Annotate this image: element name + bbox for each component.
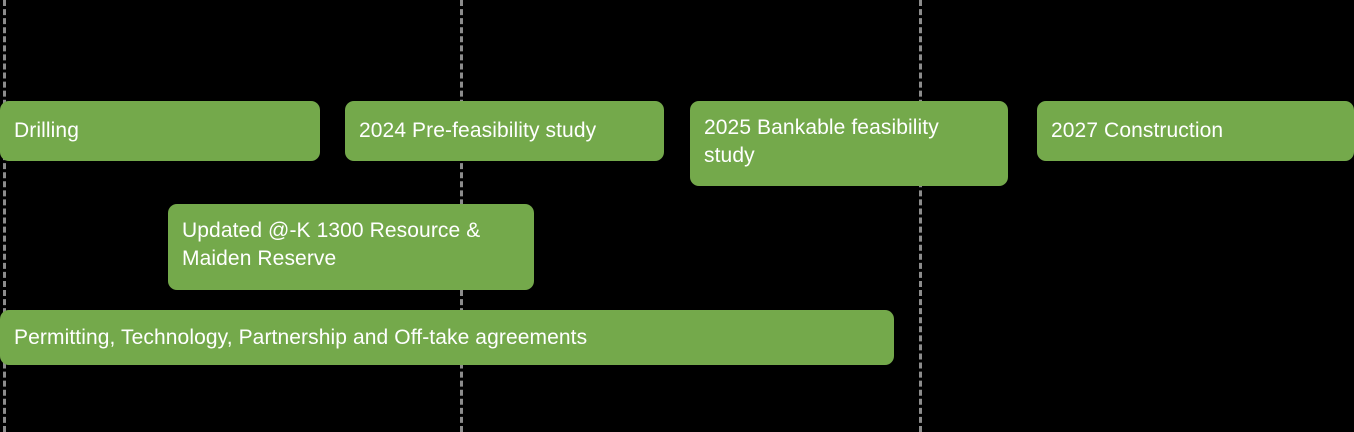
gridline-left-dashed [3,0,6,432]
timeline-chart: Drilling2024 Pre-feasibility study2025 B… [0,0,1354,432]
timeline-bar-label: Drilling [14,117,306,145]
timeline-bar-drilling[interactable]: Drilling [0,101,320,161]
timeline-bar-permitting-agreements[interactable]: Permitting, Technology, Partnership and … [0,310,894,365]
timeline-bar-bankable-feasibility-study[interactable]: 2025 Bankable feasibility study [690,101,1008,186]
timeline-bar-label: Updated @-K 1300 Resource & Maiden Reser… [182,217,520,273]
timeline-bar-label: 2025 Bankable feasibility study [704,114,994,170]
timeline-bar-label: 2024 Pre-feasibility study [359,117,650,145]
timeline-bar-pre-feasibility-study[interactable]: 2024 Pre-feasibility study [345,101,664,161]
timeline-bar-label: Permitting, Technology, Partnership and … [14,324,880,352]
timeline-bar-updated-resource-reserve[interactable]: Updated @-K 1300 Resource & Maiden Reser… [168,204,534,290]
gridline-right-dashed [919,0,922,432]
timeline-bar-label: 2027 Construction [1051,117,1340,145]
timeline-bar-construction[interactable]: 2027 Construction [1037,101,1354,161]
